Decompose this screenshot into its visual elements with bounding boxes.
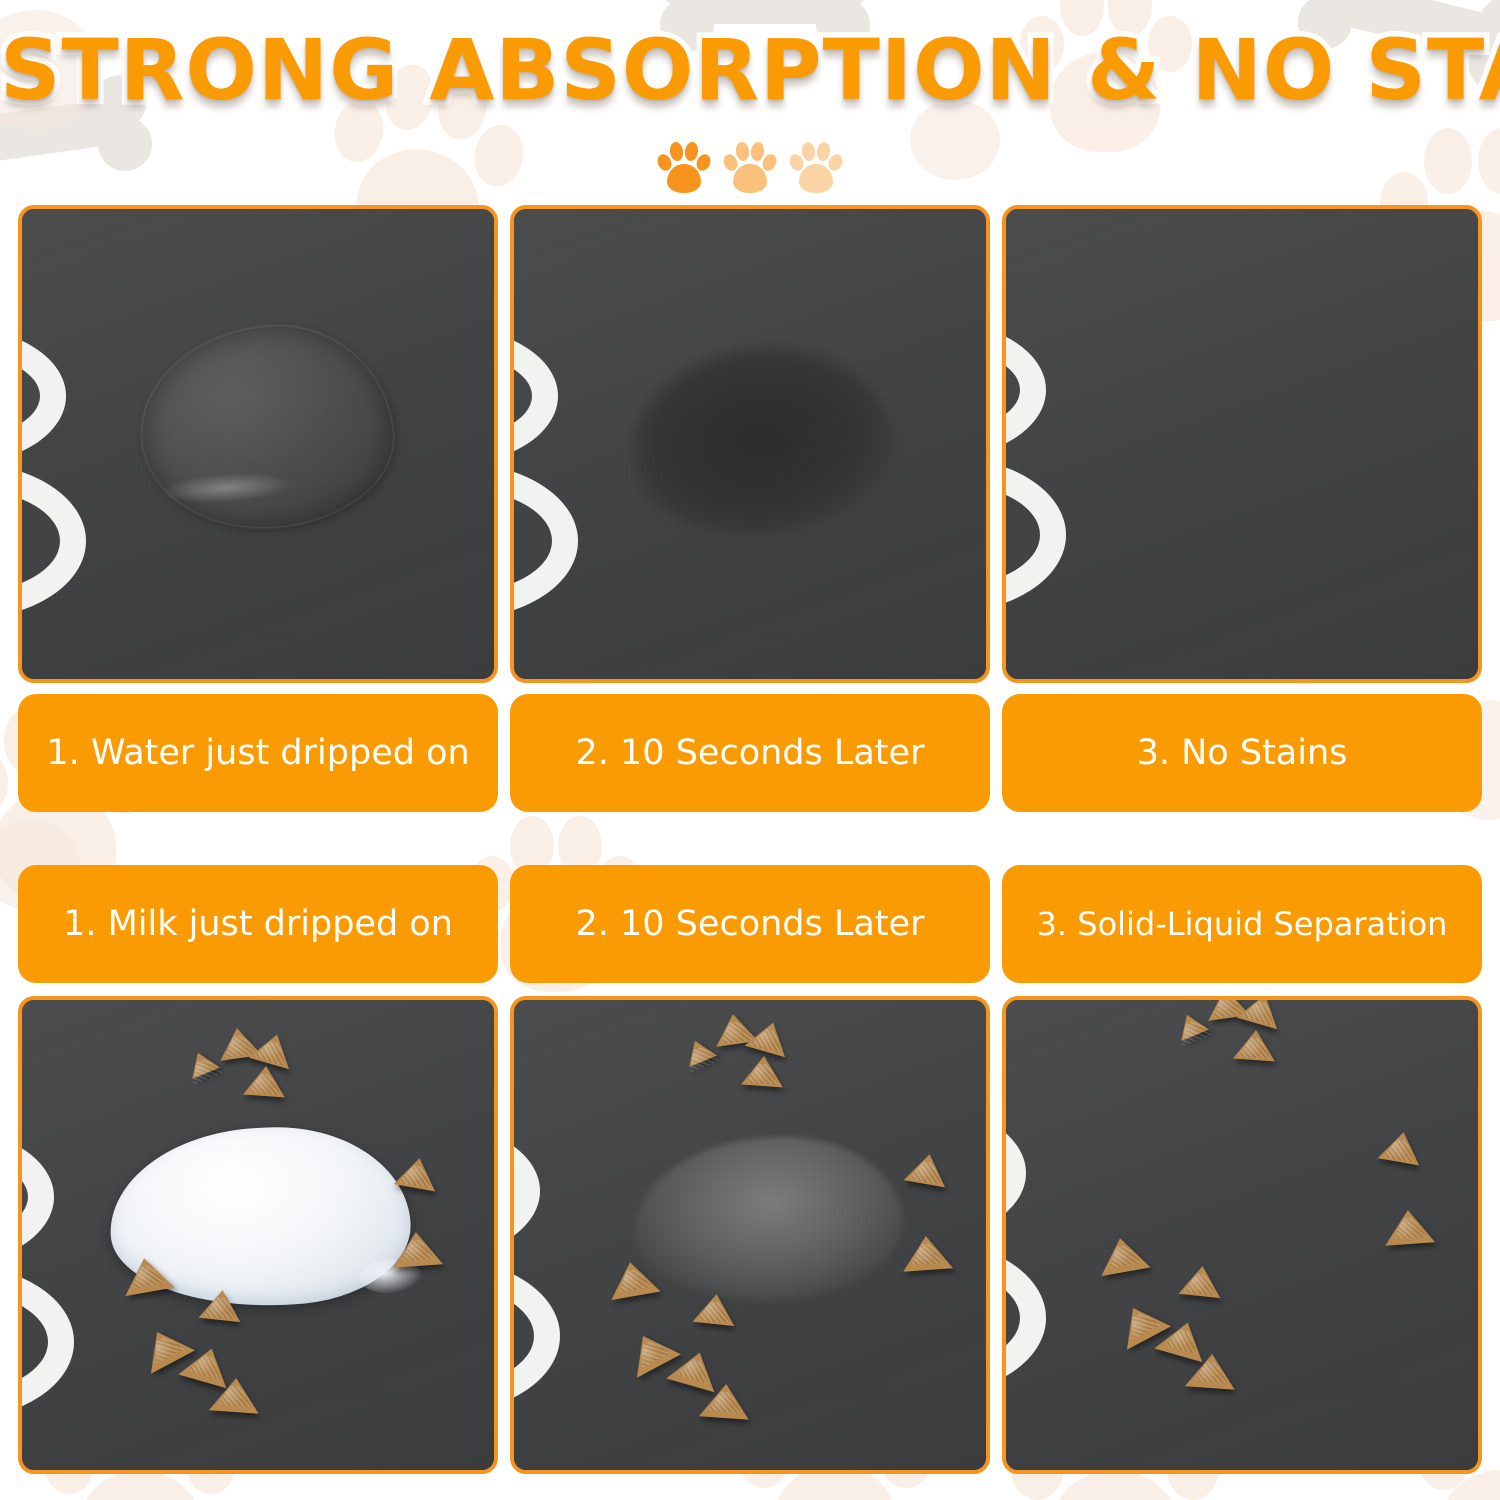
caption-water-10-seconds: 2. 10 Seconds Later <box>510 694 990 812</box>
kibble-piece <box>699 1382 751 1419</box>
paw-print-icon <box>724 140 776 194</box>
kibble-piece <box>1233 1029 1277 1062</box>
kibble-piece <box>901 1234 953 1271</box>
header: STRONG ABSORPTION & NO STAINS <box>0 0 1500 205</box>
kibble-piece <box>243 1065 287 1098</box>
kibble-piece <box>741 1055 785 1088</box>
test-cell: 2. 10 Seconds Later <box>510 865 990 1480</box>
milk-test-row: 1. Milk just dripped on <box>18 865 1482 1480</box>
kibble-piece <box>209 1376 261 1413</box>
photo-water-10-seconds <box>510 205 990 683</box>
test-cell: 3. No Stains <box>1002 205 1482 820</box>
kibble-piece <box>199 1288 244 1322</box>
photo-milk-10-seconds <box>510 996 990 1474</box>
photo-water-no-stains <box>1002 205 1482 683</box>
b-swirl-logo <box>1002 321 1194 621</box>
caption-milk-dripped: 1. Milk just dripped on <box>18 865 498 983</box>
kibble-piece <box>391 1230 443 1267</box>
paw-print-icon <box>790 140 842 194</box>
test-cell: 2. 10 Seconds Later <box>510 205 990 820</box>
kibble-piece <box>1383 1208 1435 1245</box>
caption-water-no-stains: 3. No Stains <box>1002 694 1482 812</box>
kibble-piece <box>1179 1264 1224 1298</box>
kibble-piece <box>693 1292 738 1326</box>
kibble-piece <box>1185 1352 1237 1389</box>
photo-milk-separation <box>1002 996 1482 1474</box>
test-cell: 3. Solid-Liquid Separation <box>1002 865 1482 1480</box>
caption-milk-separation: 3. Solid-Liquid Separation <box>1002 865 1482 983</box>
comparison-grid: 1. Water just dripped on 2. 10 Seconds L… <box>0 205 1500 1500</box>
caption-water-dripped: 1. Water just dripped on <box>18 694 498 812</box>
paw-print-icon <box>658 140 710 194</box>
test-cell: 1. Water just dripped on <box>18 205 498 820</box>
page-title: STRONG ABSORPTION & NO STAINS <box>0 18 1500 122</box>
paw-divider <box>0 140 1500 196</box>
test-cell: 1. Milk just dripped on <box>18 865 498 1480</box>
photo-milk-dripped <box>18 996 498 1474</box>
water-test-row: 1. Water just dripped on 2. 10 Seconds L… <box>18 205 1482 820</box>
photo-water-dripped <box>18 205 498 683</box>
caption-milk-10-seconds: 2. 10 Seconds Later <box>510 865 990 983</box>
